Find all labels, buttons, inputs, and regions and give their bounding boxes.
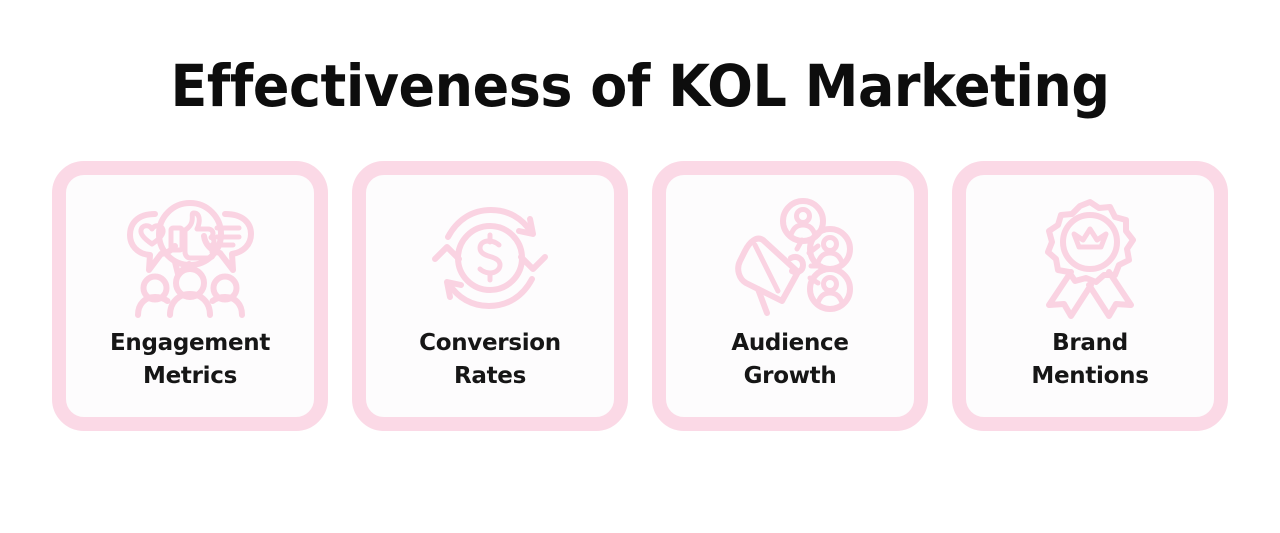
card-label-line-1: Conversion [374,327,606,360]
card-label: Conversion Rates [374,327,606,392]
card-label-line-2: Rates [374,360,606,393]
card-label-line-1: Audience [674,327,906,360]
card-audience-growth[interactable]: Audience Growth [652,161,928,431]
engagement-speech-bubbles-people-icon [125,197,255,319]
card-label-line-2: Mentions [974,360,1206,393]
card-label-line-2: Metrics [74,360,306,393]
card-engagement-metrics[interactable]: Engagement Metrics [52,161,328,431]
kol-marketing-infographic: Effectiveness of KOL Marketing [0,0,1280,533]
card-label: Engagement Metrics [74,327,306,392]
card-label-line-1: Brand [974,327,1206,360]
metric-card-row: Engagement Metrics [52,161,1228,431]
card-conversion-rates[interactable]: Conversion Rates [352,161,628,431]
page-title: Effectiveness of KOL Marketing [45,55,1235,118]
card-label-line-1: Engagement [74,327,306,360]
card-label-line-2: Growth [674,360,906,393]
audience-megaphone-users-icon [725,197,855,319]
card-brand-mentions[interactable]: Brand Mentions [952,161,1228,431]
brand-award-ribbon-crown-icon [1025,197,1155,319]
card-label: Audience Growth [674,327,906,392]
conversion-dollar-cycle-icon [425,197,555,319]
card-label: Brand Mentions [974,327,1206,392]
